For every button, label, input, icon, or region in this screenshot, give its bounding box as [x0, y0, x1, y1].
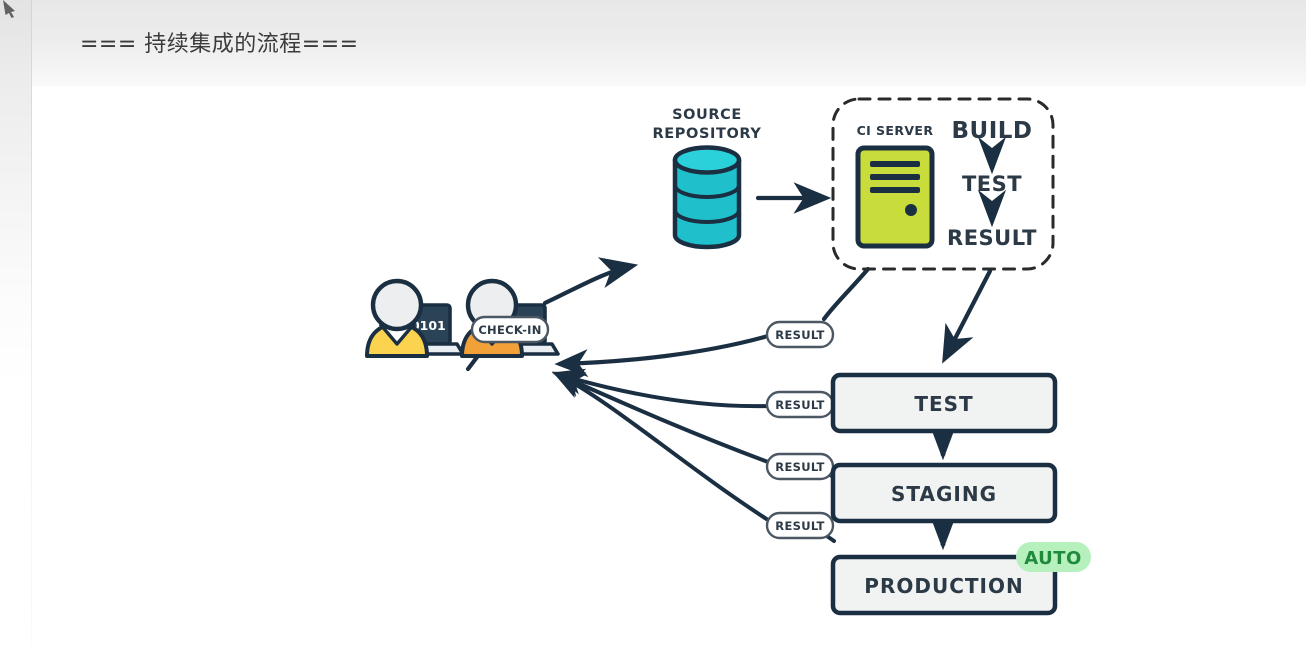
- page-title: === 持续集成的流程===: [80, 26, 359, 58]
- ci-step-test: TEST: [962, 172, 1022, 196]
- source-repository-label-line1: SOURCE: [672, 107, 742, 123]
- server-icon: [858, 148, 932, 246]
- auto-badge[interactable]: AUTO: [1016, 542, 1091, 572]
- source-repository-label-line2: REPOSITORY: [653, 126, 762, 142]
- node-ci-server[interactable]: CI SERVER: [857, 123, 934, 246]
- result-label: RESULT: [775, 519, 824, 533]
- edge-ciserver-to-test: [945, 271, 990, 358]
- ci-step-result: RESULT: [947, 226, 1037, 250]
- edge-ciserver-result-to-developers: [560, 269, 868, 364]
- node-developer-1[interactable]: 10101: [367, 281, 463, 356]
- edge-label-result-4[interactable]: RESULT: [767, 513, 833, 538]
- result-label: RESULT: [775, 460, 824, 474]
- stage-test-label: TEST: [914, 392, 973, 416]
- ci-steps-list: BUILD TEST RESULT: [947, 118, 1037, 250]
- stage-staging-label: STAGING: [891, 482, 997, 506]
- diagram-canvas: SOURCE REPOSITORY CI SERVER: [32, 86, 1306, 645]
- corner-arrow-icon: [2, 0, 24, 18]
- ci-flow-diagram: SOURCE REPOSITORY CI SERVER: [32, 86, 1306, 645]
- developer-avatar-icon: [367, 281, 427, 356]
- node-source-repository[interactable]: SOURCE REPOSITORY: [653, 107, 762, 247]
- auto-badge-label: AUTO: [1024, 548, 1082, 569]
- ci-step-build: BUILD: [951, 118, 1032, 144]
- result-label: RESULT: [775, 328, 824, 342]
- check-in-label: CHECK-IN: [478, 323, 541, 337]
- edge-label-check-in[interactable]: CHECK-IN: [472, 317, 548, 342]
- node-stage-test[interactable]: TEST: [833, 375, 1055, 431]
- edge-label-result-1[interactable]: RESULT: [767, 322, 833, 347]
- application-window: === 持续集成的流程===: [0, 0, 1306, 645]
- database-cylinder-icon: [675, 148, 739, 248]
- edge-label-result-3[interactable]: RESULT: [767, 454, 833, 479]
- left-gutter: [0, 0, 31, 645]
- ci-server-label: CI SERVER: [857, 123, 934, 138]
- edge-label-result-2[interactable]: RESULT: [767, 392, 833, 417]
- stage-production-label: PRODUCTION: [864, 574, 1023, 598]
- node-stage-staging[interactable]: STAGING: [833, 465, 1055, 521]
- result-label: RESULT: [775, 398, 824, 412]
